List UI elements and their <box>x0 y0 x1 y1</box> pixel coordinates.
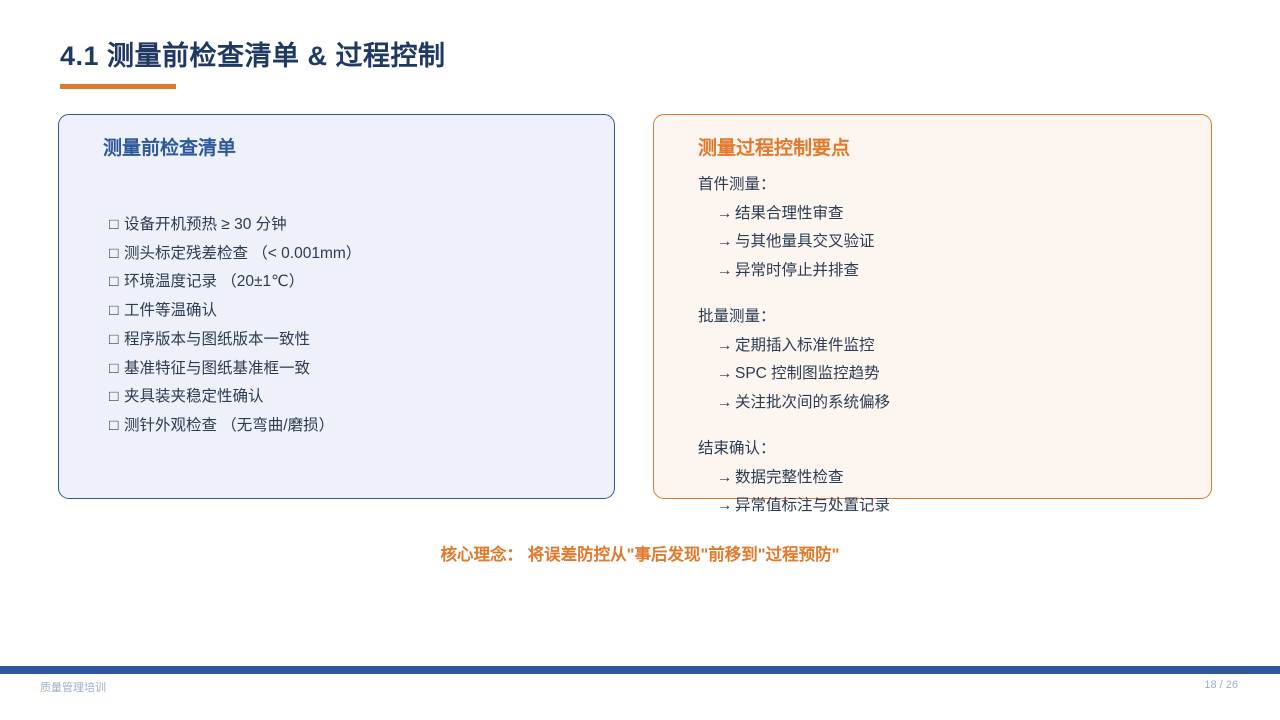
checklist-item-label: 环境温度记录 （20±1℃） <box>124 273 304 290</box>
process-group: 结束确认：→数据完整性检查→异常值标注与处置记录 <box>698 435 1193 521</box>
checklist-item-label: 基准特征与图纸基准框一致 <box>124 360 310 377</box>
process-item-label: 与其他量具交叉验证 <box>735 233 875 250</box>
checklist-item[interactable]: □程序版本与图纸版本一致性 <box>109 326 594 355</box>
arrow-right-icon: → <box>717 332 735 361</box>
checkbox-icon[interactable]: □ <box>109 412 124 441</box>
checkbox-icon[interactable]: □ <box>109 297 124 326</box>
core-concept-tagline: 核心理念： 将误差防控从"事后发现"前移到"过程预防" <box>0 541 1280 565</box>
checklist-item-label: 测针外观检查 （无弯曲/磨损） <box>124 417 334 434</box>
footer-page-indicator: 18 / 26 <box>1204 679 1238 691</box>
checkbox-icon[interactable]: □ <box>109 326 124 355</box>
footer-course-label: 质量管理培训 <box>40 679 106 695</box>
checklist-item[interactable]: □基准特征与图纸基准框一致 <box>109 355 594 384</box>
arrow-right-icon: → <box>717 464 735 493</box>
checklist-item-label: 测头标定残差检查 （< 0.001mm） <box>124 245 361 262</box>
arrow-right-icon: → <box>717 389 735 418</box>
process-item-label: 结果合理性审查 <box>735 205 844 222</box>
checklist-item-label: 设备开机预热 ≥ 30 分钟 <box>124 216 287 233</box>
arrow-right-icon: → <box>717 492 735 521</box>
process-control-list: 首件测量：→结果合理性审查→与其他量具交叉验证→异常时停止并排查批量测量：→定期… <box>698 171 1193 521</box>
arrow-right-icon: → <box>717 257 735 286</box>
process-item: →SPC 控制图监控趋势 <box>698 360 1193 389</box>
process-group-label: 结束确认： <box>698 435 1193 464</box>
pre-measurement-checklist-card: 测量前检查清单 □设备开机预热 ≥ 30 分钟□测头标定残差检查 （< 0.00… <box>58 114 615 499</box>
process-item: →异常值标注与处置记录 <box>698 492 1193 521</box>
checkbox-icon[interactable]: □ <box>109 355 124 384</box>
left-card-heading: 测量前检查清单 <box>103 133 236 160</box>
process-item-label: 关注批次间的系统偏移 <box>735 394 890 411</box>
checklist-item-label: 夹具装夹稳定性确认 <box>124 388 264 405</box>
process-control-card: 测量过程控制要点 首件测量：→结果合理性审查→与其他量具交叉验证→异常时停止并排… <box>653 114 1212 499</box>
checklist-item-label: 程序版本与图纸版本一致性 <box>124 331 310 348</box>
process-item-label: SPC 控制图监控趋势 <box>735 365 880 382</box>
process-item: →异常时停止并排查 <box>698 257 1193 286</box>
process-group: 批量测量：→定期插入标准件监控→SPC 控制图监控趋势→关注批次间的系统偏移 <box>698 303 1193 417</box>
process-item: →结果合理性审查 <box>698 200 1193 229</box>
arrow-right-icon: → <box>717 228 735 257</box>
checklist-item[interactable]: □夹具装夹稳定性确认 <box>109 383 594 412</box>
page-title: 4.1 测量前检查清单 & 过程控制 <box>60 34 446 73</box>
process-group-label: 首件测量： <box>698 171 1193 200</box>
process-item-label: 异常时停止并排查 <box>735 262 859 279</box>
checklist-item[interactable]: □测头标定残差检查 （< 0.001mm） <box>109 240 594 269</box>
checklist-item[interactable]: □环境温度记录 （20±1℃） <box>109 268 594 297</box>
checklist-item[interactable]: □测针外观检查 （无弯曲/磨损） <box>109 412 594 441</box>
process-item-label: 异常值标注与处置记录 <box>735 497 890 514</box>
process-item: →数据完整性检查 <box>698 464 1193 493</box>
checklist-item[interactable]: □工件等温确认 <box>109 297 594 326</box>
process-item: →定期插入标准件监控 <box>698 332 1193 361</box>
checkbox-icon[interactable]: □ <box>109 211 124 240</box>
arrow-right-icon: → <box>717 360 735 389</box>
checklist-item-label: 工件等温确认 <box>124 302 217 319</box>
checkbox-icon[interactable]: □ <box>109 240 124 269</box>
arrow-right-icon: → <box>717 200 735 229</box>
process-item: →关注批次间的系统偏移 <box>698 389 1193 418</box>
process-item-label: 数据完整性检查 <box>735 469 844 486</box>
checkbox-icon[interactable]: □ <box>109 268 124 297</box>
checklist-item[interactable]: □设备开机预热 ≥ 30 分钟 <box>109 211 594 240</box>
right-card-heading: 测量过程控制要点 <box>698 133 850 160</box>
checklist: □设备开机预热 ≥ 30 分钟□测头标定残差检查 （< 0.001mm）□环境温… <box>109 211 594 441</box>
process-group-label: 批量测量： <box>698 303 1193 332</box>
checkbox-icon[interactable]: □ <box>109 383 124 412</box>
process-item-label: 定期插入标准件监控 <box>735 337 875 354</box>
footer-divider <box>0 666 1280 674</box>
process-group: 首件测量：→结果合理性审查→与其他量具交叉验证→异常时停止并排查 <box>698 171 1193 285</box>
process-item: →与其他量具交叉验证 <box>698 228 1193 257</box>
title-underline-rule <box>60 84 176 89</box>
